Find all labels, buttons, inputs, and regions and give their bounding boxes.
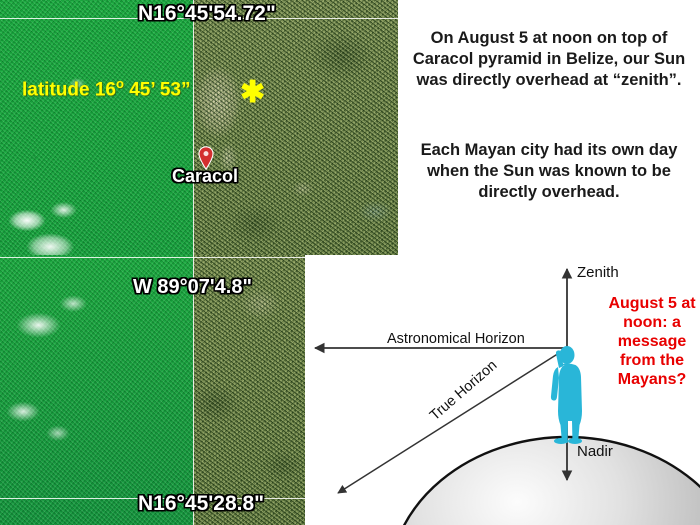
latitude-annotation-degree: o xyxy=(116,76,124,91)
caption-paragraph-1: On August 5 at noon on top of Caracol py… xyxy=(404,28,694,91)
coordinate-label-west: W 89°07'4.8" xyxy=(133,276,252,299)
latitude-annotation-prefix: latitude 16 xyxy=(22,79,116,100)
zenith-nadir-diagram: Zenith Nadir Astronomical Horizon True H… xyxy=(305,255,700,525)
planet-sphere xyxy=(389,437,700,525)
slide-canvas: N16°45'54.72" W 89°07'4.8" N16°45'28.8" … xyxy=(0,0,700,525)
asterisk-marker-icon: ✱ xyxy=(240,78,265,108)
observer-figure xyxy=(551,346,582,444)
caption-text-panel: On August 5 at noon on top of Caracol py… xyxy=(398,0,700,255)
latitude-annotation-suffix: 45’ 53” xyxy=(124,79,191,100)
coordinate-label-north-top: N16°45'54.72" xyxy=(138,2,276,26)
graticule-line-v xyxy=(193,0,194,525)
map-satellite-right xyxy=(193,0,400,255)
map-place-label-caracol: Caracol xyxy=(172,166,238,187)
nadir-label: Nadir xyxy=(577,443,613,460)
coordinate-label-north-bottom: N16°45'28.8" xyxy=(138,492,264,516)
red-callout-message: August 5 at noon: a message from the May… xyxy=(605,295,699,389)
zenith-label: Zenith xyxy=(577,264,619,281)
astronomical-horizon-label: Astronomical Horizon xyxy=(387,331,525,347)
latitude-annotation: latitude 16o 45’ 53” xyxy=(22,76,191,101)
caption-paragraph-2: Each Mayan city had its own day when the… xyxy=(404,140,694,203)
